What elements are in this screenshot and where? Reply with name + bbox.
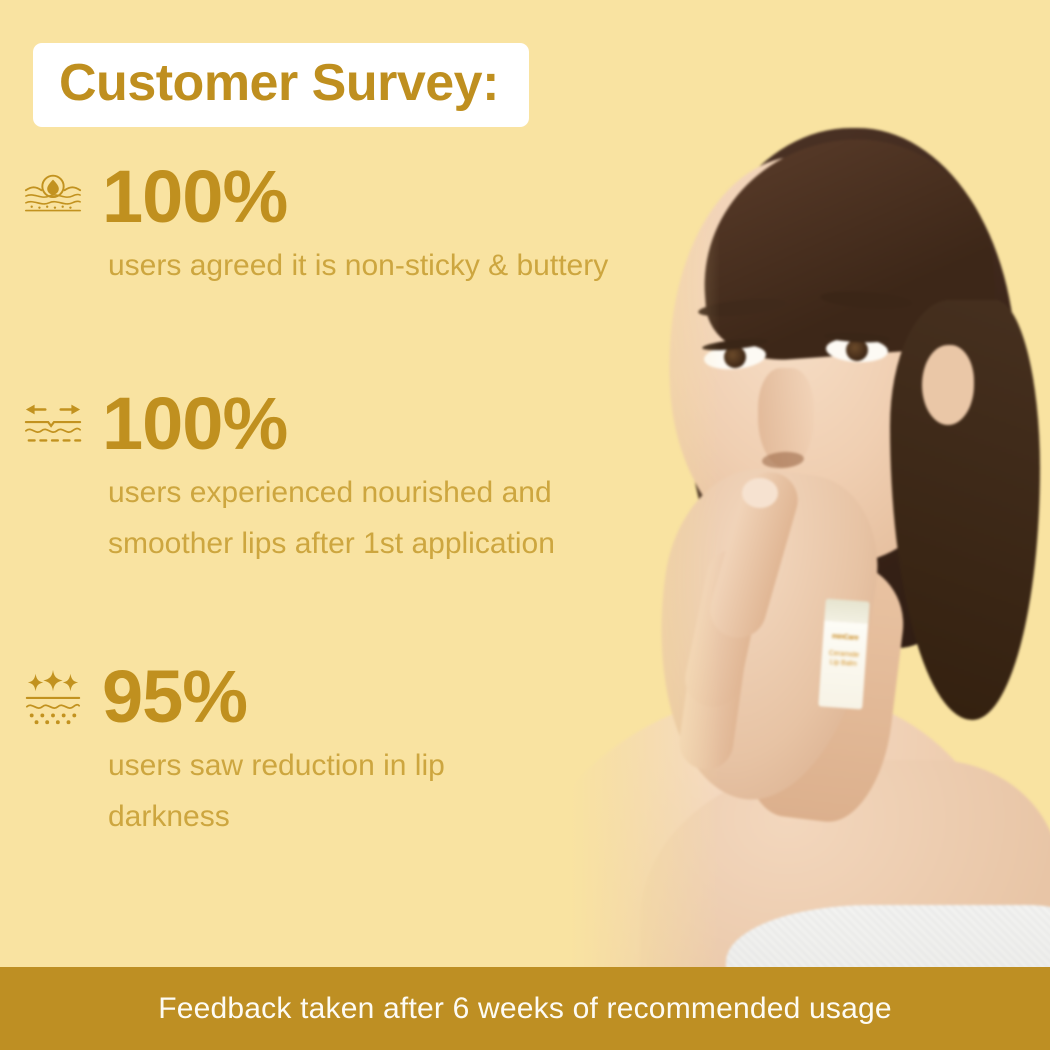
stat-item: 100% users experienced nourished and smo… (0, 387, 700, 569)
stat-caption-line: smoother lips after 1st application (108, 518, 700, 569)
stats-list: 100% users agreed it is non-sticky & but… (0, 160, 700, 842)
footer-disclaimer: Feedback taken after 6 weeks of recommen… (158, 992, 892, 1026)
skin-smoothing-arrows-icon (22, 393, 84, 455)
product-brand-text: minCare (823, 633, 867, 643)
stat-value: 100% (102, 160, 287, 234)
stat-caption: users saw reduction in lip darkness (0, 740, 700, 842)
product-name-line: Lip Balm (821, 657, 866, 669)
product-cap (824, 599, 869, 624)
stat-header: 95% (0, 660, 700, 734)
stat-caption-line: darkness (108, 791, 700, 842)
fingertip-balm (742, 478, 778, 508)
stat-item: 100% users agreed it is non-sticky & but… (0, 160, 700, 291)
product-label: minCare Ceramide Lip Balm (818, 621, 868, 710)
customer-survey-infographic: minCare Ceramide Lip Balm Customer Surve… (0, 0, 1050, 1050)
stat-caption-line: users saw reduction in lip (108, 740, 700, 791)
page-title: Customer Survey: (59, 57, 499, 109)
stat-caption-line: users experienced nourished and (108, 467, 700, 518)
footer-bar: Feedback taken after 6 weeks of recommen… (0, 967, 1050, 1050)
stat-caption-line: users agreed it is non-sticky & buttery (108, 240, 700, 291)
skin-hydration-icon (22, 166, 84, 228)
skin-brightening-sparkle-icon (22, 666, 84, 728)
stat-item: 95% users saw reduction in lip darkness (0, 660, 700, 842)
stat-value: 95% (102, 660, 247, 734)
stat-caption: users experienced nourished and smoother… (0, 467, 700, 569)
title-badge: Customer Survey: (33, 43, 529, 127)
ear (922, 345, 974, 425)
stat-caption: users agreed it is non-sticky & buttery (0, 240, 700, 291)
product-tube: minCare Ceramide Lip Balm (818, 599, 869, 710)
stat-header: 100% (0, 387, 700, 461)
product-name-text: Ceramide Lip Balm (821, 648, 866, 669)
stat-value: 100% (102, 387, 287, 461)
stat-header: 100% (0, 160, 700, 234)
